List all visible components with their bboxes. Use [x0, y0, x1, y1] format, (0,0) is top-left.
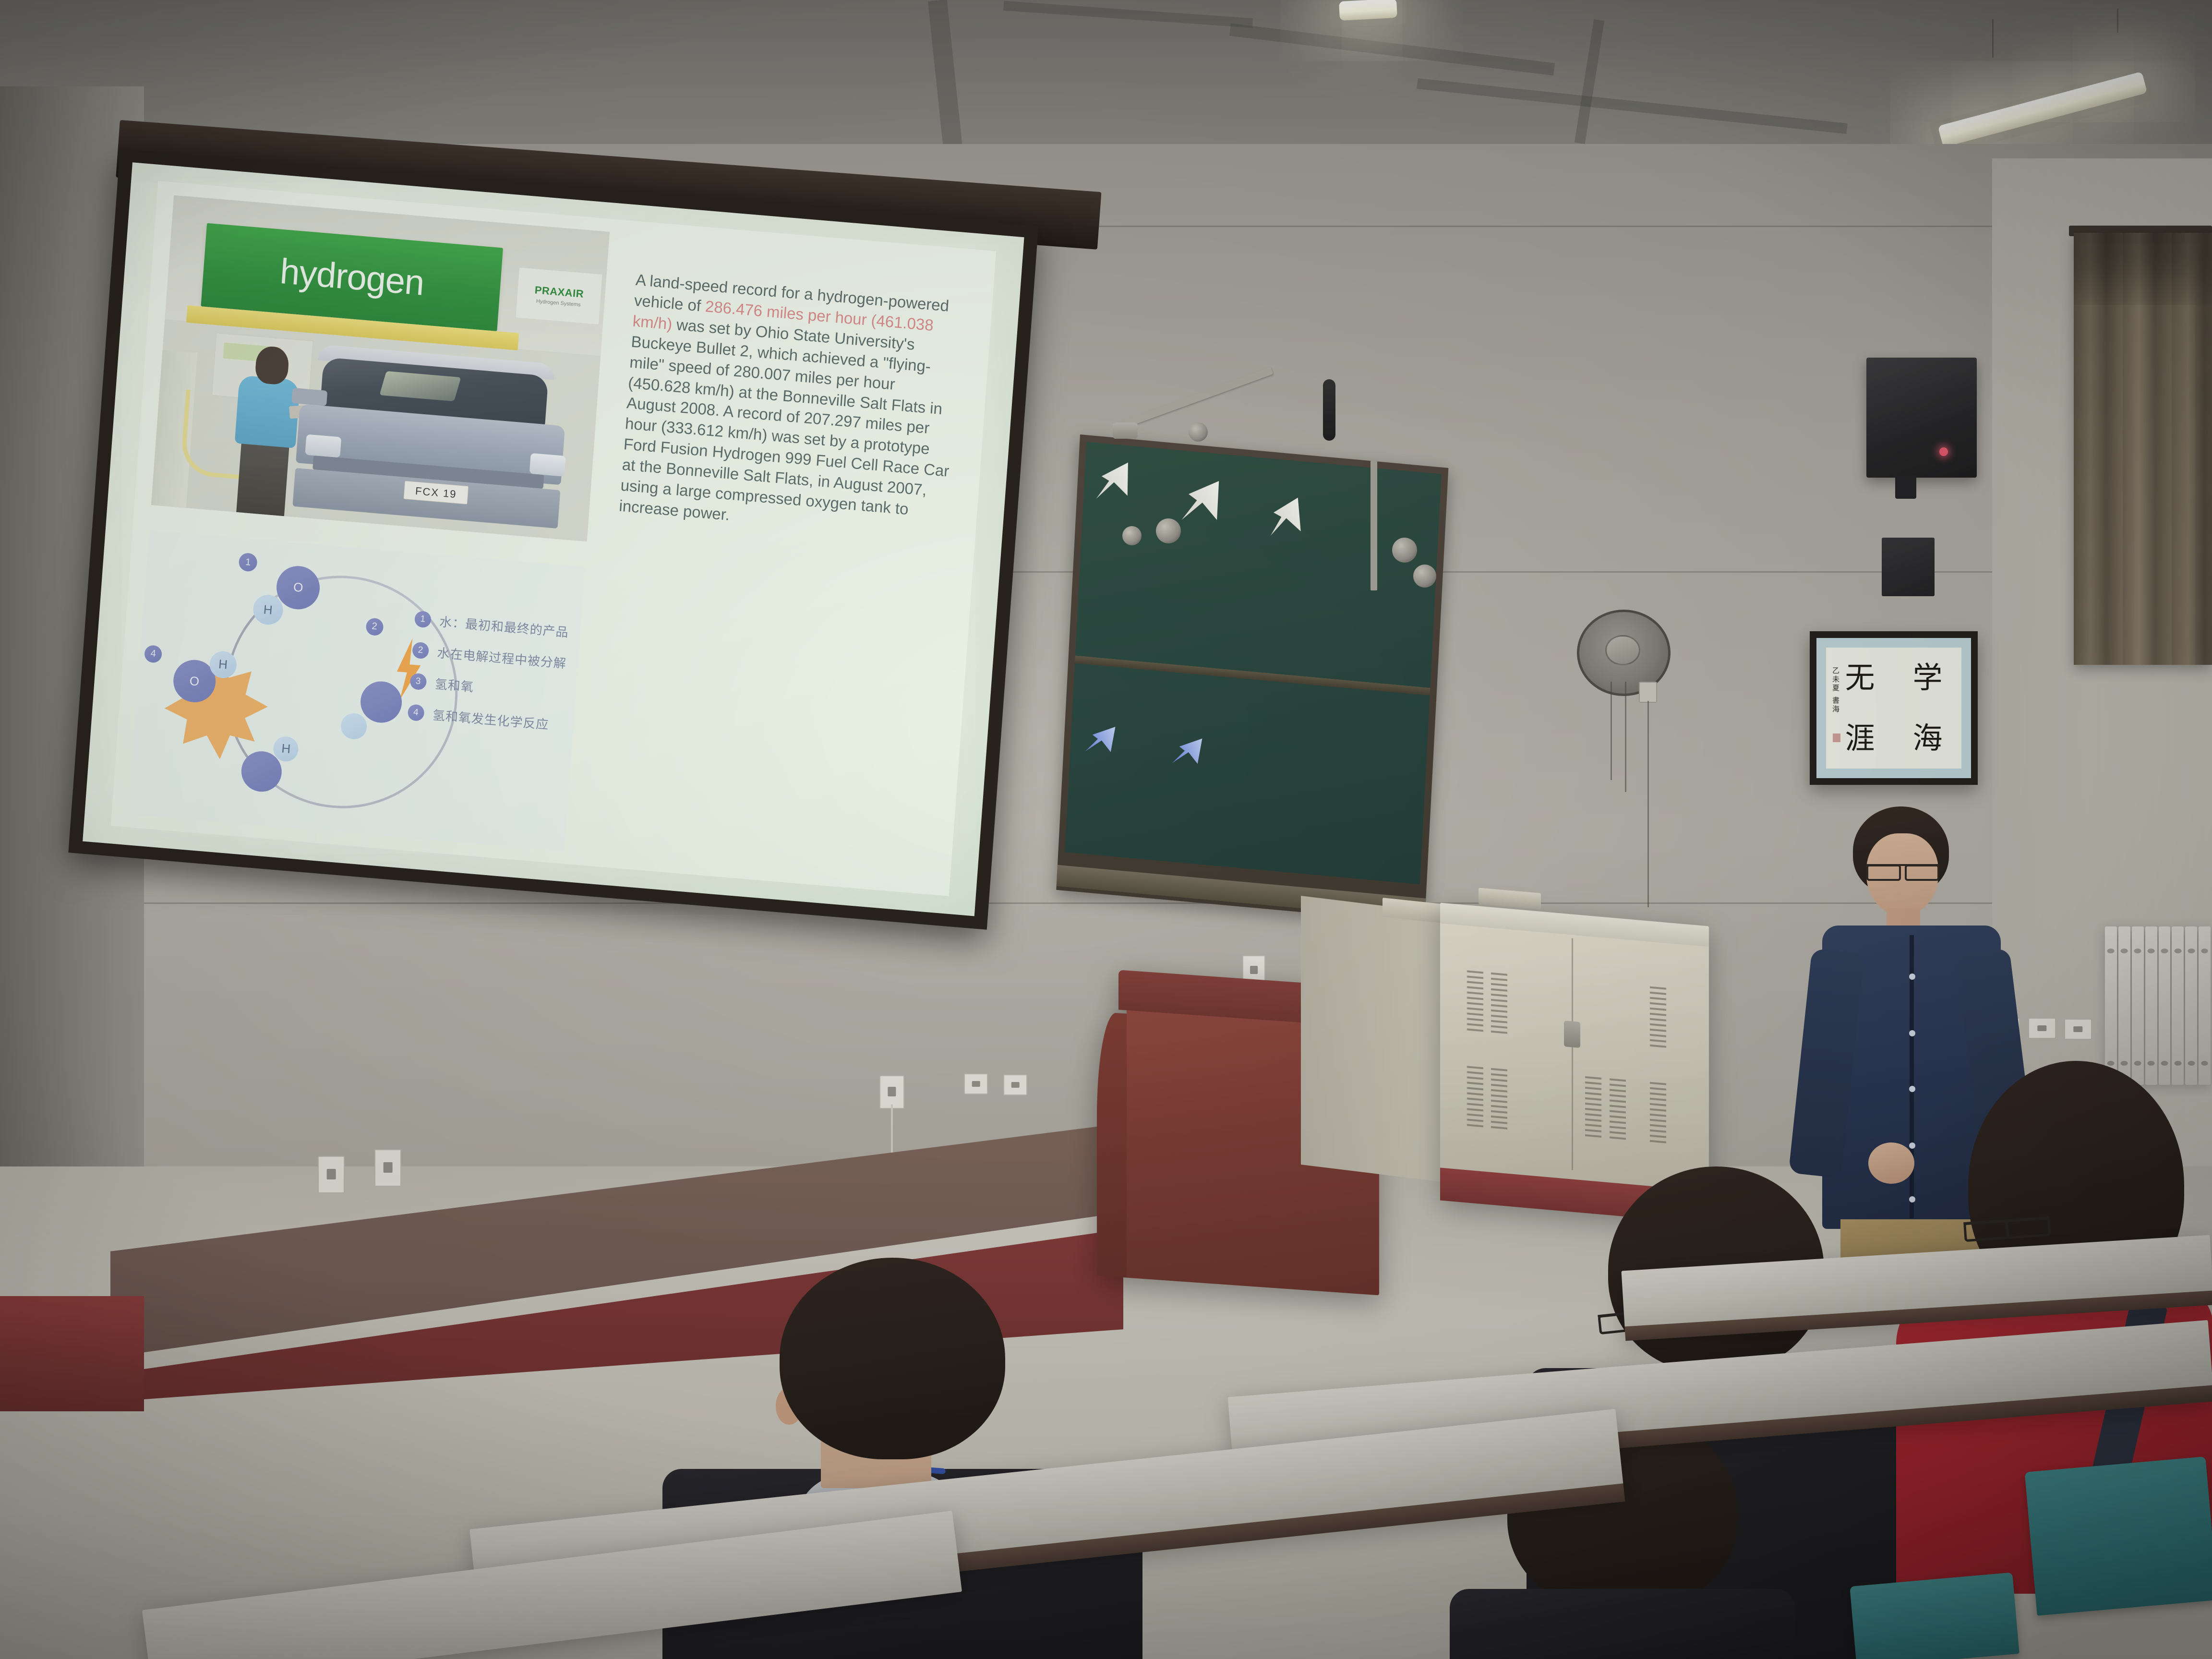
chair-back[interactable] — [1850, 1573, 2020, 1659]
molecule-hydrogen-3: H — [273, 735, 300, 762]
calligraphy-char-1: 无 — [1845, 663, 1875, 693]
blackboard[interactable] — [1056, 434, 1448, 924]
legend-item: 1 水：最初和最终的产品 — [414, 610, 577, 641]
wall-knob[interactable] — [1392, 538, 1417, 563]
light-hanger — [2117, 9, 2118, 33]
cabinet-vent — [1650, 1082, 1666, 1146]
cycle-step-marker-4: 4 — [144, 644, 163, 663]
wall-knob[interactable] — [1189, 422, 1208, 442]
microphone-arm-mount — [1113, 422, 1138, 439]
fan-pull-cord[interactable] — [1611, 682, 1612, 780]
legend-label-4: 氢和氧发生化学反应 — [432, 706, 550, 733]
speaker-power-led — [1939, 447, 1948, 456]
legend-number-1: 1 — [414, 611, 431, 628]
photo-car: FCX 19 — [286, 343, 587, 540]
calligraphy-mat: 无 学 涯 海 乙未夏 書海 — [1816, 638, 1971, 778]
glasses-lens-right — [1905, 865, 1939, 881]
calligraphy-char-3: 涯 — [1845, 723, 1875, 753]
calligraphy-frame: 无 学 涯 海 乙未夏 書海 — [1810, 631, 1978, 785]
wall-outlet[interactable] — [1003, 1074, 1027, 1095]
calligraphy-char-2: 学 — [1912, 663, 1942, 693]
wall-knob[interactable] — [1122, 526, 1142, 545]
light-hanger — [1992, 19, 1994, 58]
glasses-lens-right — [2005, 1217, 2051, 1239]
molecule-label-h: H — [252, 594, 284, 626]
shirt-button — [1909, 1030, 1915, 1036]
glasses-lens-left — [1963, 1220, 2009, 1242]
cabinet-side-panel — [1301, 896, 1450, 1183]
screen-surface: hydrogen PRAXAIR Hydrogen Systems — [83, 162, 1024, 916]
presentation-slide: hydrogen PRAXAIR Hydrogen Systems — [111, 181, 997, 896]
speaker-bracket — [1895, 476, 1916, 499]
chair-back[interactable] — [2025, 1456, 2212, 1616]
wall-outlet[interactable] — [2064, 1019, 2092, 1040]
wall-conduit — [1370, 461, 1377, 590]
legend-item: 4 氢和氧发生化学反应 — [407, 703, 570, 734]
molecule-hydrogen-1: H — [252, 594, 284, 626]
screen-frame: hydrogen PRAXAIR Hydrogen Systems — [68, 149, 1038, 930]
classroom-scene: hydrogen PRAXAIR Hydrogen Systems — [0, 0, 2212, 1659]
cabinet-vent — [1467, 971, 1483, 1034]
slide-hydrogen-cycle-diagram: 1 O H 2 3 H 4 O H — [128, 530, 585, 851]
legend-label-3: 氢和氧 — [434, 674, 474, 696]
wall-fan-icon[interactable] — [1577, 610, 1666, 691]
fan-power-cable — [1647, 701, 1649, 907]
car-side-mirror — [292, 387, 327, 406]
microphone-icon[interactable] — [1323, 379, 1335, 441]
window-curtain[interactable] — [2074, 233, 2212, 665]
cabinet-vent — [1467, 1066, 1483, 1130]
wall-knob[interactable] — [1413, 565, 1436, 588]
legend-label-1: 水：最初和最终的产品 — [439, 612, 569, 640]
glasses-icon — [1866, 864, 1939, 866]
calligraphy-signature: 乙未夏 書海 — [1831, 667, 1841, 714]
shirt-button — [1909, 974, 1915, 980]
license-plate-text: FCX 19 — [415, 484, 457, 500]
wall-speaker-small-icon — [1882, 538, 1935, 596]
stage-skirt-left — [0, 1296, 144, 1411]
cabinet-vent — [1491, 1068, 1507, 1132]
wall-outlet[interactable] — [964, 1073, 988, 1094]
student-head — [780, 1258, 1005, 1459]
praxair-logo: PRAXAIR Hydrogen Systems — [516, 268, 602, 325]
wall-knob[interactable] — [1156, 518, 1181, 543]
legend-label-2: 水在电解过程中被分解 — [436, 643, 567, 672]
calligraphy-seal — [1833, 733, 1840, 742]
fan-wall-switch[interactable] — [1639, 682, 1657, 703]
diagram-legend: 1 水：最初和最终的产品 2 水在电解过程中被分解 3 氢和氧 — [406, 610, 577, 748]
calligraphy-char-4: 海 — [1912, 723, 1942, 753]
legend-number-4: 4 — [407, 704, 424, 722]
ceiling-tube-light — [1339, 0, 1397, 21]
glasses-lens-left — [1866, 865, 1901, 881]
cabinet-lock-icon[interactable] — [1564, 1021, 1580, 1048]
slide-text-seg-3: was set by Ohio State University's Bucke… — [618, 315, 950, 523]
blackboard-frame — [1056, 434, 1448, 924]
molecule-label-h4: H — [209, 650, 238, 679]
photo-person-legs — [236, 438, 289, 516]
cycle-step-marker-1: 1 — [239, 553, 258, 572]
cabinet-vent — [1491, 973, 1507, 1036]
cabinet-vent — [1650, 986, 1666, 1050]
slide-photo-hydrogen-station: hydrogen PRAXAIR Hydrogen Systems — [151, 195, 610, 541]
cabinet-body — [1440, 921, 1709, 1194]
wall-speaker-icon — [1866, 358, 1977, 478]
slide-body-text: A land-speed record for a hydrogen-power… — [618, 270, 967, 544]
student-shoulders — [1450, 1589, 1795, 1659]
cabinet-vent — [1610, 1078, 1626, 1142]
car-headlight-left — [305, 434, 341, 457]
legend-number-3: 3 — [409, 673, 427, 691]
praxair-wordmark: PRAXAIR — [534, 284, 584, 301]
cabinet-vent — [1585, 1076, 1601, 1140]
stage-platform-left — [0, 1229, 144, 1450]
cabinet-door-seam — [1572, 938, 1573, 1170]
calligraphy-paper: 无 学 涯 海 乙未夏 書海 — [1826, 648, 1961, 769]
molecule-hydrogen-4: H — [209, 650, 238, 679]
praxair-tagline: Hydrogen Systems — [536, 299, 581, 308]
legend-item: 2 水在电解过程中被分解 — [412, 641, 575, 673]
car-headlight-right — [529, 453, 565, 477]
legend-number-2: 2 — [412, 642, 429, 660]
hydrogen-sign-label: hydrogen — [278, 251, 425, 303]
fan-hub — [1605, 635, 1640, 666]
legend-item: 3 氢和氧 — [409, 672, 572, 703]
molecule-label-h3: H — [273, 735, 300, 762]
projection-screen-unit[interactable]: hydrogen PRAXAIR Hydrogen Systems — [120, 120, 1104, 1104]
fan-pull-cord[interactable] — [1625, 682, 1626, 792]
